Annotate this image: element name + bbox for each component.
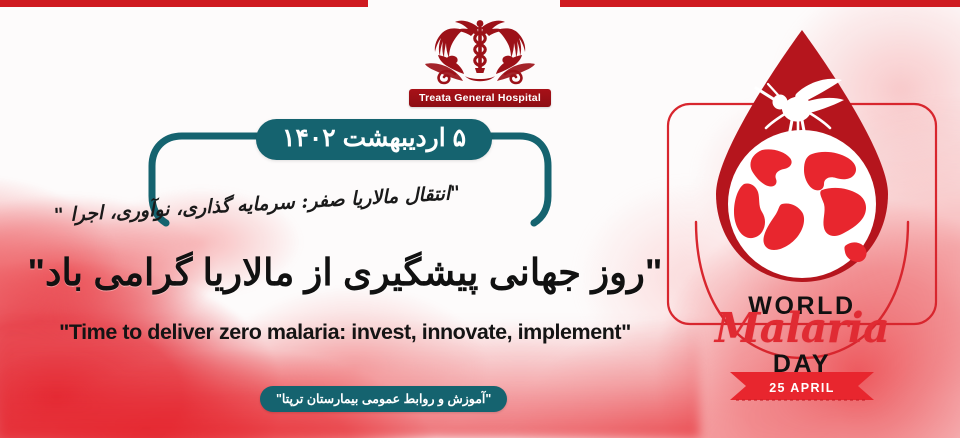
headline-persian: "روز جهانی پیشگیری از مالاریا گرامی باد" — [0, 252, 690, 293]
emblem-word-malaria: Malaria — [652, 308, 952, 349]
footer-credit-badge: "آموزش و روابط عمومی بیمارستان ترپتا" — [260, 386, 507, 412]
emblem-word-day: DAY — [652, 352, 952, 377]
emblem-ribbon-date: 25 APRIL — [652, 382, 952, 395]
top-rule-left — [0, 0, 368, 7]
tagline-english: "Time to deliver zero malaria: invest, i… — [0, 320, 690, 345]
caduceus-icon — [405, 6, 555, 88]
date-badge: ۵ اردیبهشت ۱۴۰۲ — [256, 119, 492, 160]
hospital-logo: Treata General Hospital — [385, 6, 575, 107]
malaria-day-banner: Treata General Hospital ۵ اردیبهشت ۱۴۰۲ … — [0, 0, 960, 438]
world-malaria-day-emblem: WORLD Malaria DAY 25 APRIL — [652, 8, 952, 428]
top-rule-right — [560, 0, 960, 7]
hospital-name-plate: Treata General Hospital — [409, 89, 551, 107]
date-frame: ۵ اردیبهشت ۱۴۰۲ — [146, 122, 556, 240]
